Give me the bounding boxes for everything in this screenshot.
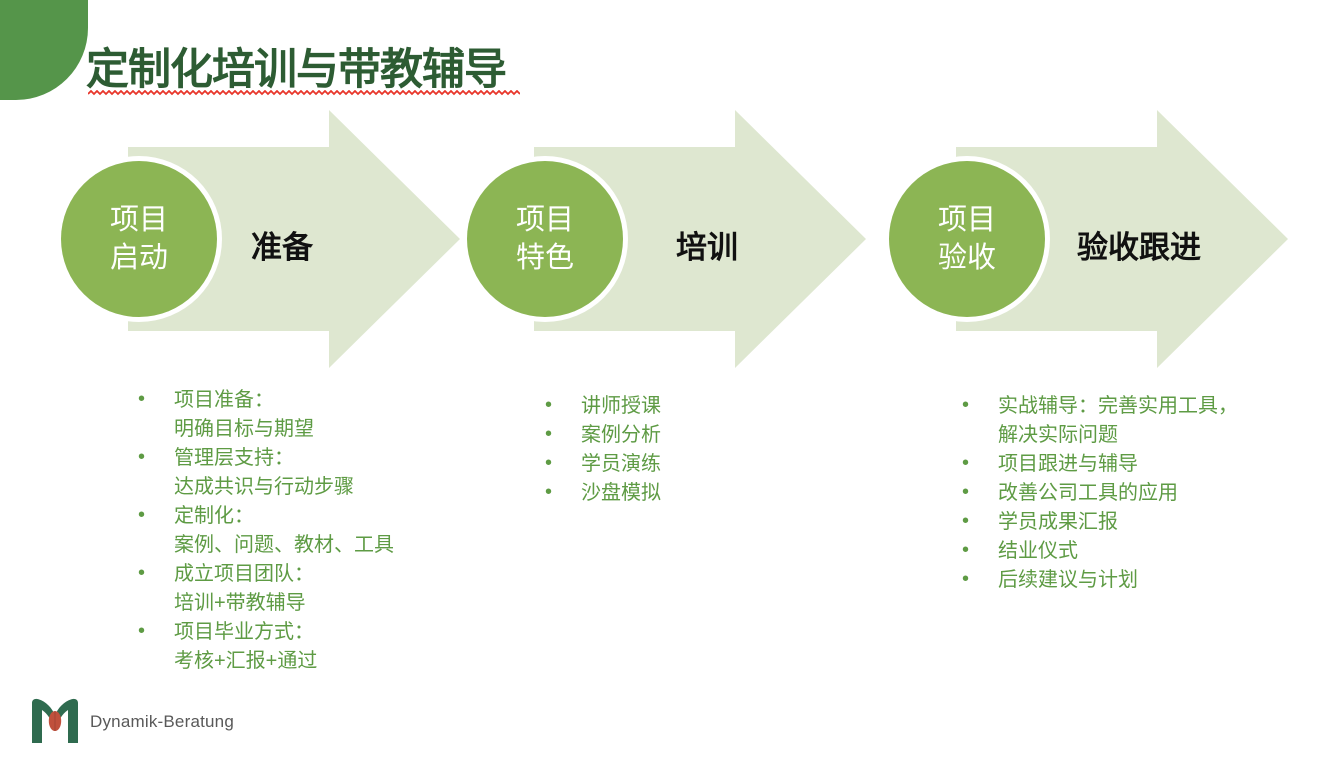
list-item: • 学员演练 <box>535 450 661 479</box>
step-circle-2[interactable]: 项目 特色 <box>467 161 623 317</box>
footer-logo: Dynamik-Beratung <box>30 697 234 747</box>
bullet-dot-icon: • <box>962 478 969 507</box>
bullet-dot-icon: • <box>545 449 552 478</box>
list-item-line2: 考核+汇报+通过 <box>174 647 394 676</box>
list-item-line1: 项目毕业方式： <box>174 618 394 647</box>
bullet-dot-icon: • <box>962 507 969 536</box>
list-item: • 成立项目团队： 培训+带教辅导 <box>128 560 394 618</box>
bullet-list-acceptance: • 实战辅导：完善实用工具， 解决实际问题 • 项目跟进与辅导 • 改善公司工具… <box>952 392 1272 595</box>
list-item-line1: 学员演练 <box>581 450 661 479</box>
list-item-line1: 沙盘模拟 <box>581 479 661 508</box>
bullet-list-preparation: • 项目准备： 明确目标与期望 • 管理层支持： 达成共识与行动步骤 • 定制化… <box>128 386 394 676</box>
list-item: • 案例分析 <box>535 421 661 450</box>
list-item-line1: 讲师授课 <box>581 392 661 421</box>
bullet-dot-icon: • <box>138 617 145 646</box>
list-item-line1: 实战辅导：完善实用工具， <box>998 392 1272 421</box>
bullet-dot-icon: • <box>138 443 145 472</box>
bullet-dot-icon: • <box>962 449 969 478</box>
list-item: • 改善公司工具的应用 <box>952 479 1272 508</box>
step-circle-3-line1: 项目 <box>938 201 996 239</box>
list-item-line1: 结业仪式 <box>998 537 1272 566</box>
list-item-line1: 项目跟进与辅导 <box>998 450 1272 479</box>
list-item-line1: 案例分析 <box>581 421 661 450</box>
list-item: • 学员成果汇报 <box>952 508 1272 537</box>
list-item-line2: 明确目标与期望 <box>174 415 394 444</box>
list-item-line2: 达成共识与行动步骤 <box>174 473 394 502</box>
step-circle-3[interactable]: 项目 验收 <box>889 161 1045 317</box>
list-item-line1: 管理层支持： <box>174 444 394 473</box>
list-item-line1: 定制化： <box>174 502 394 531</box>
list-item: • 讲师授课 <box>535 392 661 421</box>
bullet-dot-icon: • <box>962 536 969 565</box>
bullet-dot-icon: • <box>138 501 145 530</box>
step-circle-2-line2: 特色 <box>516 239 574 277</box>
bullet-dot-icon: • <box>962 391 969 420</box>
bullet-dot-icon: • <box>545 391 552 420</box>
list-item-line1: 改善公司工具的应用 <box>998 479 1272 508</box>
list-item: • 实战辅导：完善实用工具， 解决实际问题 <box>952 392 1272 450</box>
step-circle-2-line1: 项目 <box>516 201 574 239</box>
list-item: • 项目准备： 明确目标与期望 <box>128 386 394 444</box>
arrow-label-2: 培训 <box>676 222 738 267</box>
step-circle-1[interactable]: 项目 启动 <box>61 161 217 317</box>
list-item: • 后续建议与计划 <box>952 566 1272 595</box>
list-item-line1: 成立项目团队： <box>174 560 394 589</box>
list-item: • 项目跟进与辅导 <box>952 450 1272 479</box>
bullet-dot-icon: • <box>545 420 552 449</box>
slide-canvas: 定制化培训与带教辅导 项目 启动 项目 特色 项目 验收 准备 培训 验收跟进 … <box>0 0 1320 758</box>
bullet-dot-icon: • <box>545 478 552 507</box>
list-item-line1: 项目准备： <box>174 386 394 415</box>
step-circle-1-line1: 项目 <box>110 201 168 239</box>
list-item-line1: 后续建议与计划 <box>998 566 1272 595</box>
bullet-dot-icon: • <box>138 559 145 588</box>
bullet-list-training: • 讲师授课 • 案例分析 • 学员演练 • 沙盘模拟 <box>535 392 661 508</box>
list-item-line2: 案例、问题、教材、工具 <box>174 531 394 560</box>
arrow-label-3: 验收跟进 <box>1077 222 1201 267</box>
list-item: • 管理层支持： 达成共识与行动步骤 <box>128 444 394 502</box>
list-item: • 项目毕业方式： 考核+汇报+通过 <box>128 618 394 676</box>
list-item-line1: 学员成果汇报 <box>998 508 1272 537</box>
list-item: • 沙盘模拟 <box>535 479 661 508</box>
arrow-label-1: 准备 <box>251 222 313 267</box>
list-item: • 定制化： 案例、问题、教材、工具 <box>128 502 394 560</box>
bullet-dot-icon: • <box>962 565 969 594</box>
step-circle-3-line2: 验收 <box>938 239 996 277</box>
bullet-dot-icon: • <box>138 385 145 414</box>
list-item-line2: 培训+带教辅导 <box>174 589 394 618</box>
list-item: • 结业仪式 <box>952 537 1272 566</box>
brand-name: Dynamik-Beratung <box>90 712 234 732</box>
step-circle-1-line2: 启动 <box>110 239 168 277</box>
list-item-line2: 解决实际问题 <box>998 421 1272 450</box>
dynamik-m-logo-icon <box>30 697 80 747</box>
